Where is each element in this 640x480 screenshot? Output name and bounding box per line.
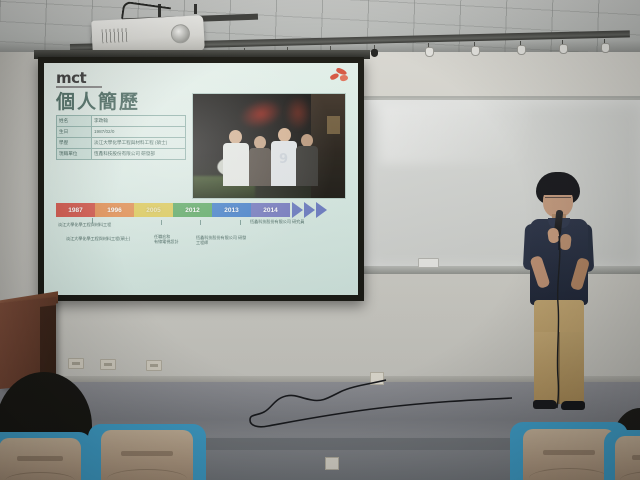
timeline-segment: 2013 (212, 203, 251, 217)
presenter (512, 172, 608, 416)
mic-cord (512, 172, 608, 416)
photo-person: 9 (271, 128, 297, 186)
slide-title: 個人簡歷 (56, 87, 140, 114)
timeline-annotation: 任職宏和 有線電視設計 (154, 234, 194, 245)
wall-outlet (68, 358, 84, 369)
photo-person (296, 134, 318, 186)
whiteboard-glare (380, 104, 530, 164)
career-timeline: 1987 1996 2005 2012 2013 2014 (56, 203, 290, 217)
timeline-annotation: 恆鑫科技股份有限公司 研發 工程師 (196, 235, 256, 246)
photo-window-light (327, 116, 340, 134)
table-row: 生日 1987/02/0 (57, 127, 186, 138)
chevron-right-icon (316, 202, 327, 218)
projection-screen: mct 個人簡歷 姓名 李政翰 生日 1987/02/0 學歷 淡江大學化學工程… (44, 63, 358, 295)
projector-lens-icon (170, 24, 190, 44)
timeline-arrows (292, 202, 327, 218)
mount-rod (194, 4, 197, 14)
spot-light (470, 42, 479, 55)
timeline-segment: 2012 (173, 203, 212, 217)
spot-light (558, 40, 567, 53)
spot-light (370, 45, 379, 58)
chevron-right-icon (304, 202, 315, 218)
row-key: 姓名 (57, 116, 92, 127)
timeline-segment: 2005 (134, 203, 173, 217)
timeline-tick (200, 220, 201, 225)
profile-table: 姓名 李政翰 生日 1987/02/0 學歷 淡江大學化學工程與材料工程 (碩士… (56, 115, 186, 160)
row-key: 現職單位 (57, 149, 92, 160)
timeline-segment: 1987 (56, 203, 95, 217)
row-value: 恆鑫科技股份有限公司 研發部 (92, 149, 186, 160)
jersey-number: 9 (279, 152, 288, 167)
seat[interactable] (0, 432, 92, 480)
timeline-annotation: 淡江大學化學工程與材料工程(碩士) (66, 236, 152, 241)
mct-logo: mct (56, 69, 86, 87)
row-key: 學歷 (57, 138, 92, 149)
row-value: 淡江大學化學工程與材料工程 (碩士) (92, 138, 186, 149)
brand-mark-icon (328, 67, 350, 83)
slide-content: mct 個人簡歷 姓名 李政翰 生日 1987/02/0 學歷 淡江大學化學工程… (44, 63, 358, 295)
photo-person (223, 130, 249, 186)
spot-light (516, 41, 525, 54)
seat[interactable] (604, 430, 640, 480)
seat[interactable] (88, 424, 206, 480)
wall-outlet (100, 359, 116, 370)
timeline-tick (240, 220, 241, 225)
photo-red-banner (285, 96, 311, 130)
projector-vent (102, 28, 129, 43)
slide-photo: 9 (192, 93, 346, 199)
row-key: 生日 (57, 127, 92, 138)
timeline-annotation: 恆鑫科技股份有限公司 研究員 (250, 219, 346, 224)
timeline-tick (161, 220, 162, 225)
timeline-segment: 1996 (95, 203, 134, 217)
row-value: 李政翰 (92, 116, 186, 127)
timeline-annotation: 淡江大學化學工程與材料工程 (58, 222, 140, 227)
chevron-right-icon (292, 202, 303, 218)
row-value: 1987/02/0 (92, 127, 186, 138)
timeline-segment: 2014 (251, 203, 290, 217)
lecture-hall-scene: mct 個人簡歷 姓名 李政翰 生日 1987/02/0 學歷 淡江大學化學工程… (0, 0, 640, 480)
spot-light (600, 39, 609, 52)
photo-person (249, 136, 271, 186)
table-row: 學歷 淡江大學化學工程與材料工程 (碩士) (57, 138, 186, 149)
floor-outlet (325, 457, 339, 470)
spot-light (424, 43, 433, 56)
table-row: 現職單位 恆鑫科技股份有限公司 研發部 (57, 149, 186, 160)
table-row: 姓名 李政翰 (57, 116, 186, 127)
whiteboard-eraser (418, 258, 439, 268)
